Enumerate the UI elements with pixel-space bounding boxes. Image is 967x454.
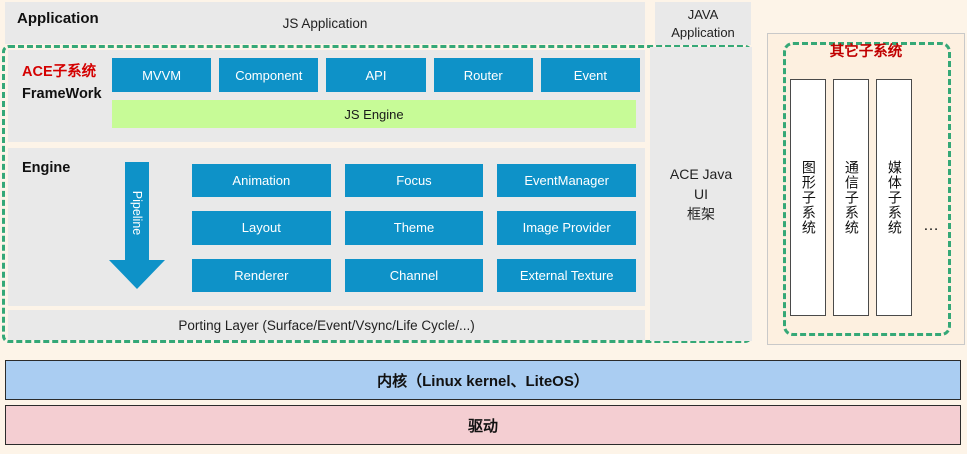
engine-module-image-provider[interactable]: Image Provider — [497, 211, 636, 244]
other-subsystems-panel: 其它子系统 图形子系统 通信子系统 媒体子系统 … — [767, 33, 965, 345]
engine-module-eventmanager[interactable]: EventManager — [497, 164, 636, 197]
framework-label-group: ACE子系统 FrameWork — [22, 60, 102, 102]
engine-module-animation[interactable]: Animation — [192, 164, 331, 197]
java-application-label: JAVA Application — [671, 6, 735, 41]
other-subsystems-list: 图形子系统 通信子系统 媒体子系统 — [790, 79, 918, 316]
framework-module-event[interactable]: Event — [541, 58, 640, 92]
ace-java-ui-label: ACE Java UI 框架 — [670, 164, 732, 225]
framework-module-api[interactable]: API — [326, 58, 425, 92]
js-application-label: JS Application — [5, 2, 645, 44]
engine-module-renderer[interactable]: Renderer — [192, 259, 331, 292]
subsystem-box-communication[interactable]: 通信子系统 — [833, 79, 869, 316]
engine-module-grid: Animation Focus EventManager Layout Them… — [192, 164, 636, 292]
other-subsystems-ellipsis: … — [923, 217, 940, 235]
framework-band: ACE子系统 FrameWork MVVM Component API Rout… — [8, 50, 645, 142]
kernel-bar: 内核（Linux kernel、LiteOS） — [5, 360, 961, 400]
driver-bar: 驱动 — [5, 405, 961, 445]
engine-module-channel[interactable]: Channel — [345, 259, 484, 292]
subsystem-label-graphics: 图形子系统 — [800, 160, 816, 235]
engine-module-layout[interactable]: Layout — [192, 211, 331, 244]
framework-module-row: MVVM Component API Router Event — [112, 58, 640, 92]
porting-layer-bar: Porting Layer (Surface/Event/Vsync/Life … — [8, 310, 645, 340]
engine-band: Engine Pipeline Animation Focus EventMan… — [8, 148, 645, 306]
application-layer-label: Application — [17, 10, 99, 27]
framework-layer-label: FrameWork — [22, 86, 102, 102]
engine-module-external-texture[interactable]: External Texture — [497, 259, 636, 292]
application-row: JS Application Application — [5, 2, 645, 44]
framework-module-mvvm[interactable]: MVVM — [112, 58, 211, 92]
subsystem-box-graphics[interactable]: 图形子系统 — [790, 79, 826, 316]
engine-module-theme[interactable]: Theme — [345, 211, 484, 244]
pipeline-arrow-icon: Pipeline — [108, 162, 166, 290]
engine-layer-label: Engine — [22, 160, 70, 176]
subsystem-box-media[interactable]: 媒体子系统 — [876, 79, 912, 316]
engine-module-focus[interactable]: Focus — [345, 164, 484, 197]
js-engine-bar[interactable]: JS Engine — [112, 100, 636, 128]
ace-subsystem-label: ACE子系统 — [22, 60, 102, 81]
framework-module-component[interactable]: Component — [219, 58, 318, 92]
java-application-box: JAVA Application — [655, 2, 751, 45]
ace-java-ui-column: ACE Java UI 框架 — [650, 47, 752, 341]
subsystem-label-communication: 通信子系统 — [843, 160, 859, 235]
other-subsystems-title: 其它子系统 — [768, 40, 964, 61]
architecture-diagram: JS Application Application JAVA Applicat… — [0, 0, 967, 454]
subsystem-label-media: 媒体子系统 — [886, 160, 902, 235]
framework-module-router[interactable]: Router — [434, 58, 533, 92]
pipeline-label: Pipeline — [86, 184, 188, 242]
